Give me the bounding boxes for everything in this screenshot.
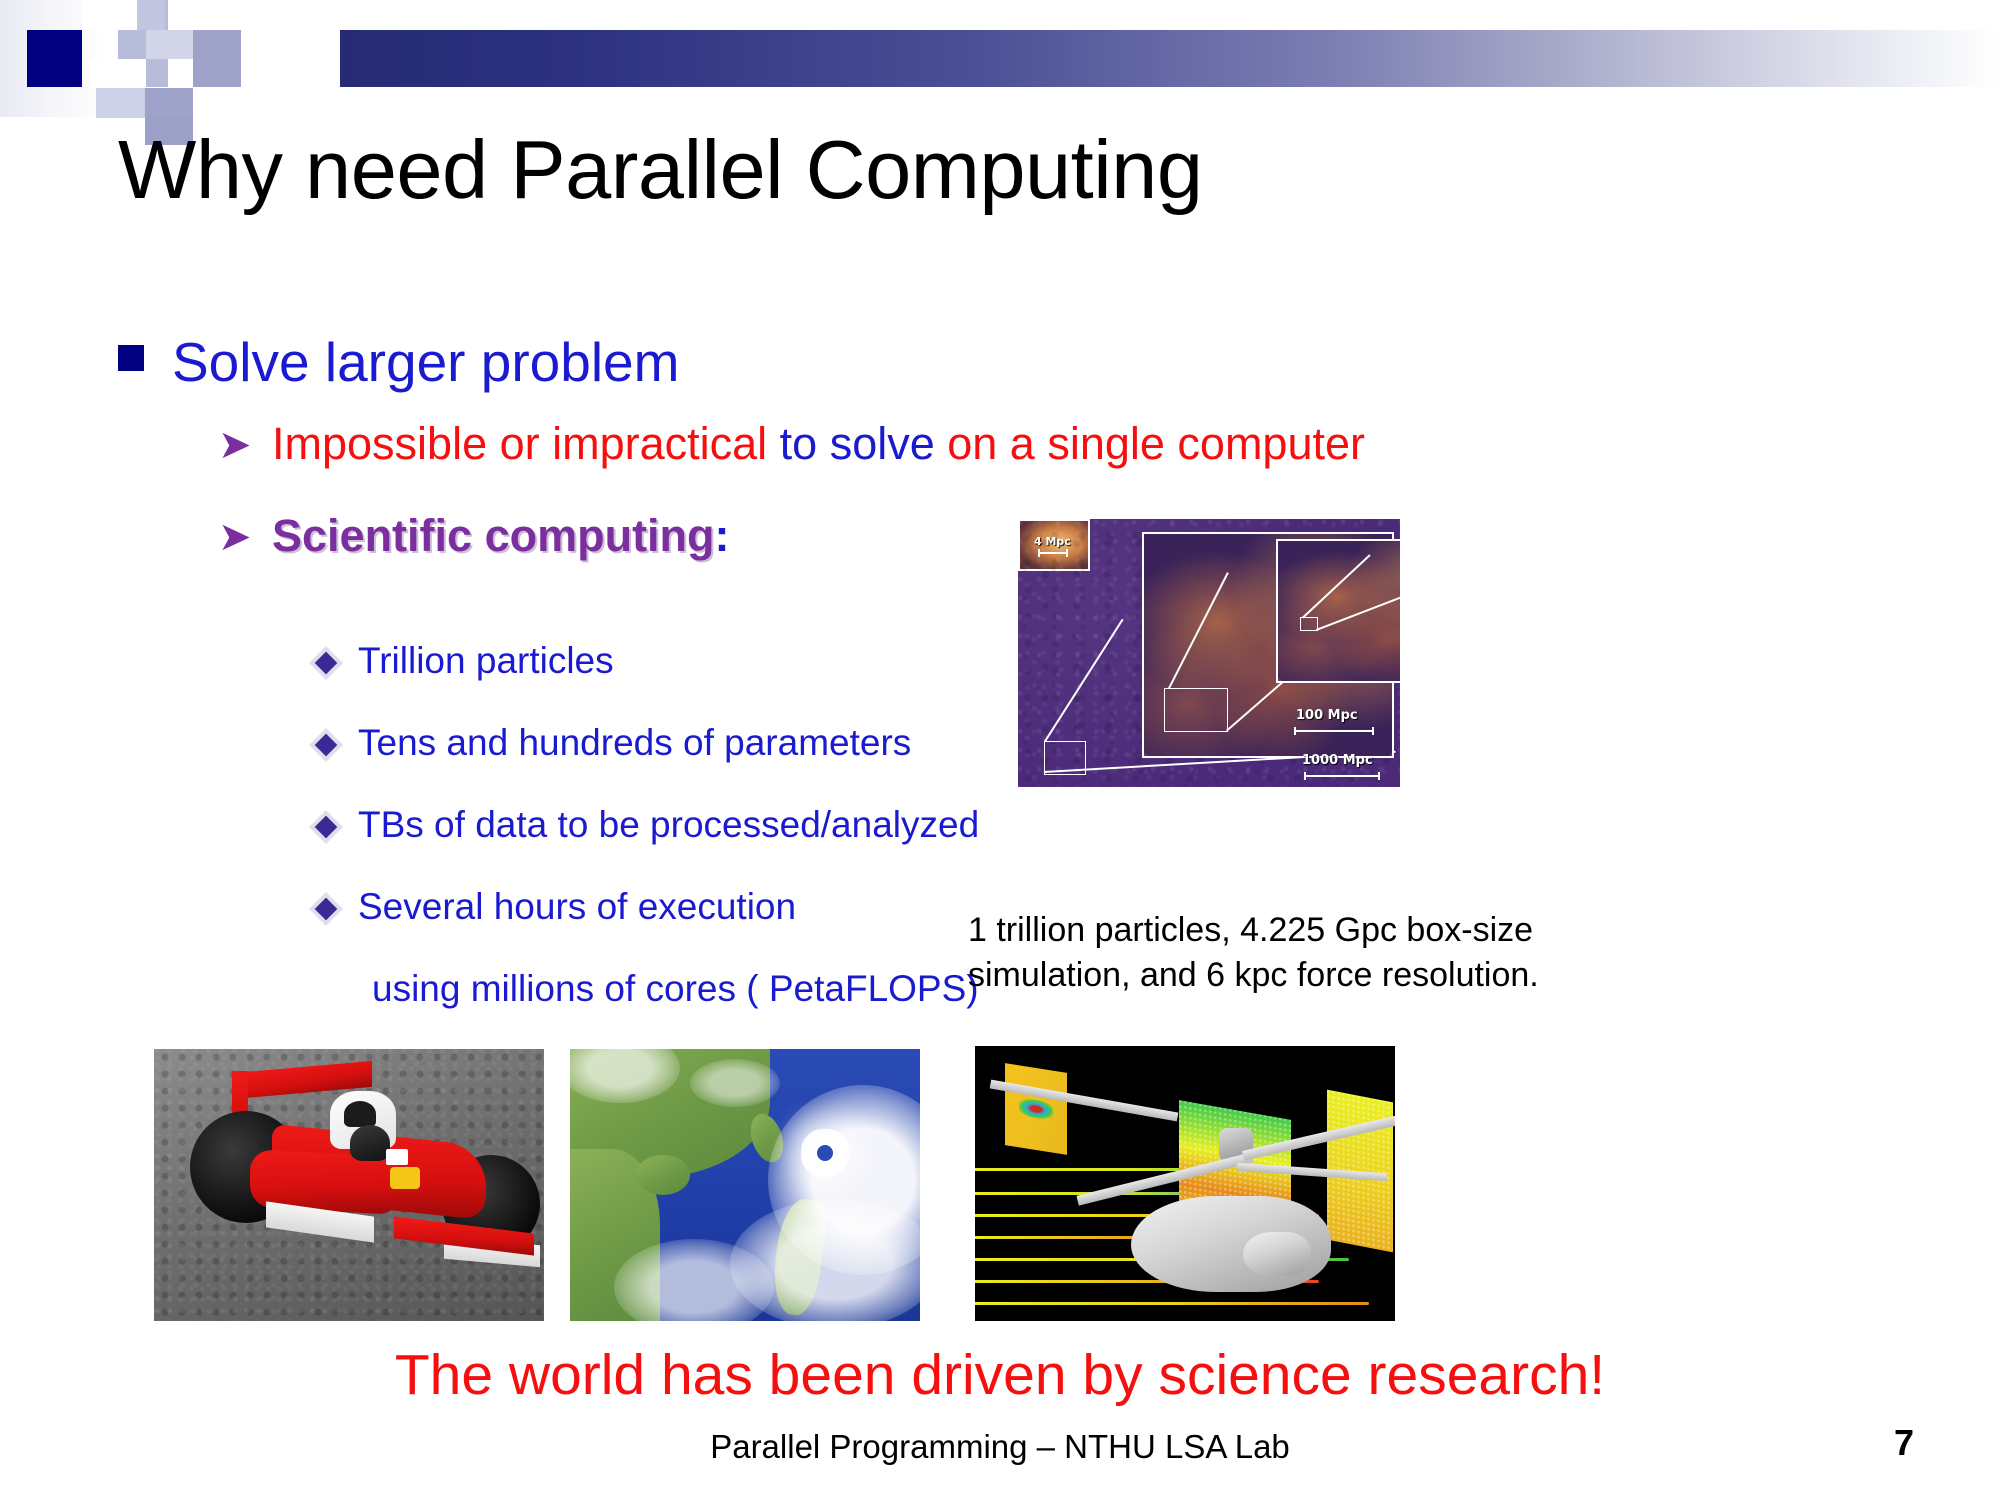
- zoom-region-outer: [1044, 741, 1086, 775]
- cosmology-caption: 1 trillion particles, 4.225 Gpc box-size…: [968, 908, 2000, 998]
- scale-label-100mpc: 100 Mpc: [1296, 708, 1358, 723]
- arrow-bullet-icon: ➤: [218, 514, 254, 560]
- bullet-segment-colon: :: [715, 510, 730, 561]
- bullet-level3-label: TBs of data to be processed/analyzed: [358, 804, 979, 845]
- cloud-patch-north: [690, 1059, 780, 1107]
- streamline: [975, 1302, 1369, 1305]
- bullet-segment-to-solve: to solve: [780, 418, 948, 469]
- page-title: Why need Parallel Computing: [118, 128, 1203, 211]
- cosmology-caption-line1: 1 trillion particles, 4.225 Gpc box-size: [968, 908, 2000, 953]
- bullet-level3-several-hours: Several hours of execution: [318, 886, 796, 928]
- typhoon-eye: [817, 1145, 833, 1161]
- zoom-connector-line: [1302, 554, 1371, 618]
- header-square-low-violet: [145, 88, 193, 117]
- page-number: 7: [1894, 1422, 1914, 1464]
- landmass-hainan: [636, 1155, 690, 1195]
- driver-helmet: [350, 1125, 390, 1161]
- formula-one-photo: [154, 1049, 544, 1321]
- sponson: [1243, 1232, 1311, 1276]
- header-square-white-b: [90, 59, 146, 88]
- scale-label-1000mpc: 1000 Mpc: [1302, 753, 1373, 768]
- scale-label-4mpc: 4 Mpc: [1034, 535, 1071, 548]
- cfd-rotorcraft-photo: [975, 1046, 1395, 1321]
- bullet-segment-impossible: Impossible or impractical: [272, 418, 780, 469]
- diamond-bullet-icon: [315, 898, 338, 921]
- diamond-bullet-icon: [315, 652, 338, 675]
- pressure-plane-left: [1005, 1063, 1067, 1155]
- header-square-mid-violet: [193, 30, 241, 87]
- bullet-segment-single-computer: on a single computer: [947, 418, 1365, 469]
- bullet-level3-continuation: using millions of cores ( PetaFLOPS): [372, 968, 979, 1010]
- bullet-level3-parameters: Tens and hundreds of parameters: [318, 722, 911, 764]
- header-square-navy: [27, 30, 82, 87]
- scale-bar-1000mpc: [1304, 775, 1380, 777]
- bullet-level3-tbs-of-data: TBs of data to be processed/analyzed: [318, 804, 979, 846]
- bullet-level3-label: Several hours of execution: [358, 886, 796, 927]
- closing-statement: The world has been driven by science res…: [0, 1342, 2000, 1408]
- zoom-connector-line: [1168, 572, 1229, 689]
- airbox-intake: [344, 1101, 376, 1127]
- arrow-bullet-icon: ➤: [218, 422, 254, 468]
- scale-bar-100mpc: [1294, 730, 1374, 732]
- car-number: [386, 1149, 408, 1165]
- slide-footer: Parallel Programming – NTHU LSA Lab: [0, 1428, 2000, 1466]
- slide-canvas: Why need Parallel Computing Solve larger…: [0, 0, 2000, 1500]
- bullet-level1-solve-larger-problem: Solve larger problem: [118, 330, 679, 394]
- square-bullet-icon: [118, 345, 144, 371]
- zoom-region-level1: [1164, 688, 1228, 732]
- scale-bar-4mpc: [1038, 552, 1068, 554]
- header-square-mid-pale: [146, 30, 193, 59]
- header-square-white-a: [82, 0, 137, 30]
- bullet-level2-impossible: ➤Impossible or impractical to solve on a…: [218, 418, 1365, 470]
- bullet-level3-trillion-particles: Trillion particles: [318, 640, 614, 682]
- pressure-contour: [1019, 1097, 1053, 1120]
- bullet-level3-label: Tens and hundreds of parameters: [358, 722, 911, 763]
- header-square-low-pale: [96, 88, 145, 118]
- bullet-level2-scientific-computing: ➤Scientific computing:: [218, 510, 730, 562]
- bullet-level3-label: Trillion particles: [358, 640, 614, 681]
- typhoon-satellite-photo: [570, 1049, 920, 1321]
- diamond-bullet-icon: [315, 816, 338, 839]
- shell-logo: [390, 1167, 420, 1189]
- diamond-bullet-icon: [315, 734, 338, 757]
- header-gradient-bar: [340, 30, 2000, 87]
- cosmology-simulation-figure: 100 Mpc 20 Mpc 4 Mpc 1000 Mpc: [1018, 519, 1400, 787]
- cosmology-caption-line2: simulation, and 6 kpc force resolution.: [968, 953, 2000, 998]
- zoom-box-level2: 20 Mpc: [1276, 539, 1400, 683]
- bullet-segment-scientific-computing: Scientific computing: [272, 510, 715, 561]
- bullet-level1-label: Solve larger problem: [172, 331, 679, 393]
